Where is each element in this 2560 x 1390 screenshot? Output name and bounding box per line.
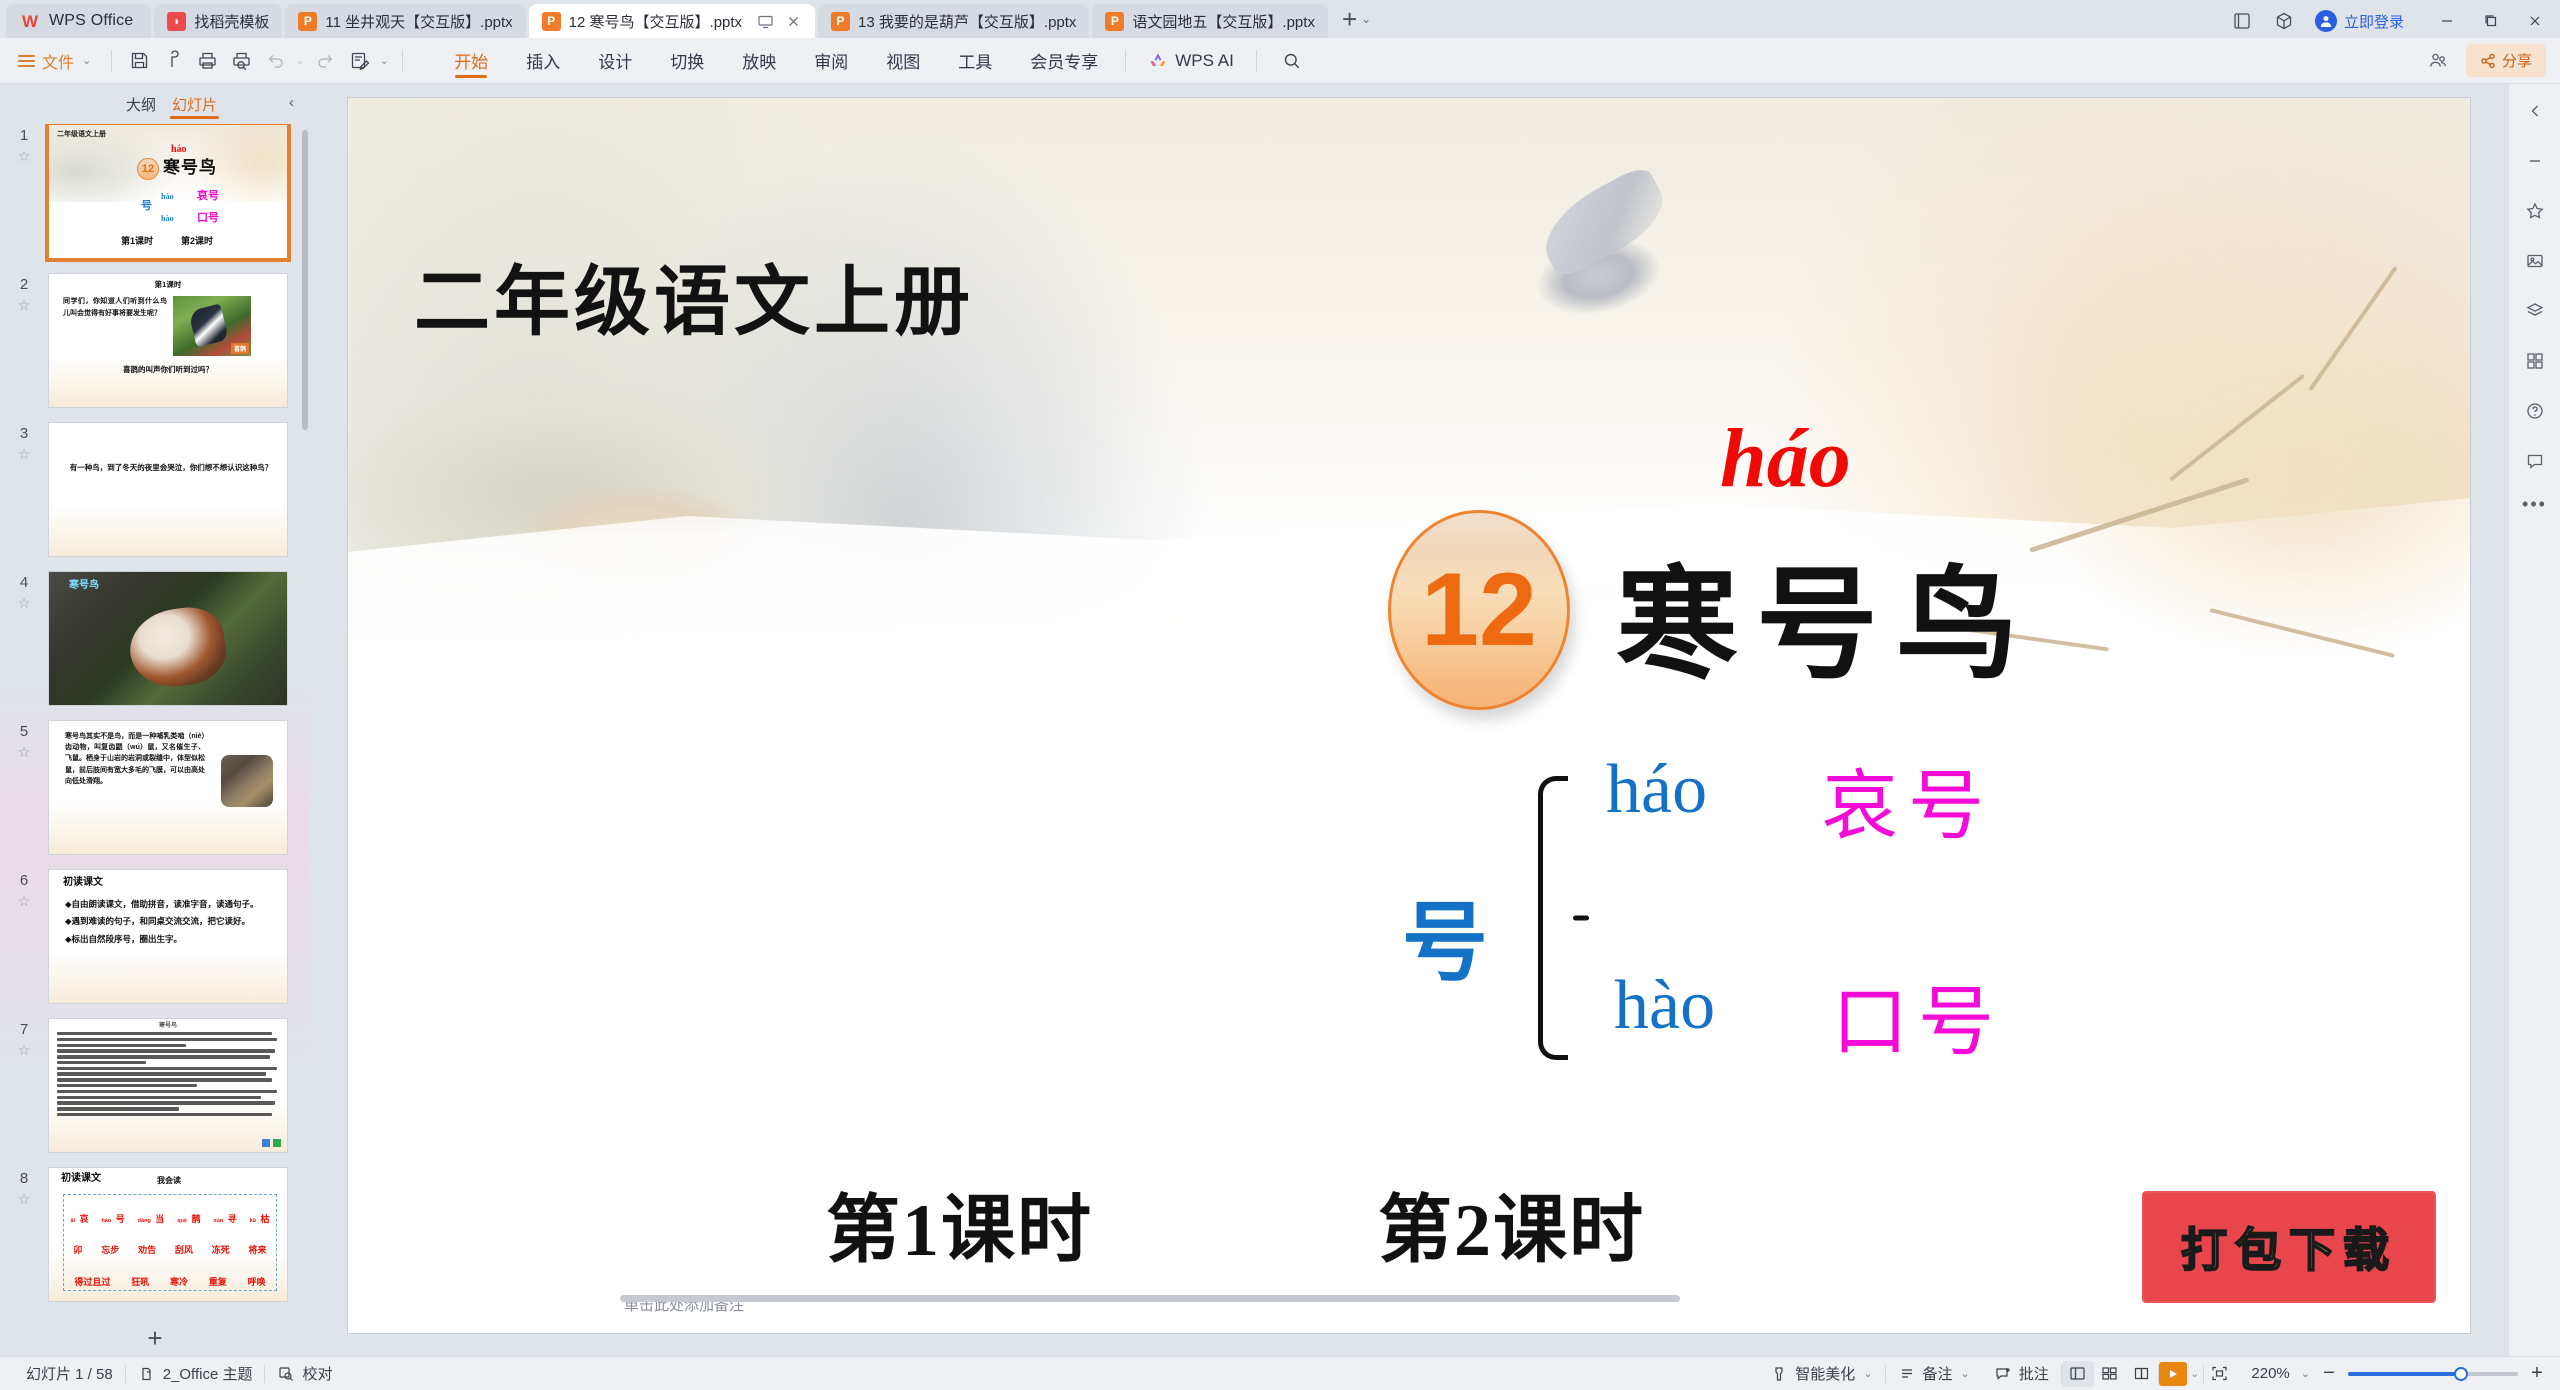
slide-thumbnail-4[interactable]: 寒号鸟 xyxy=(48,571,288,706)
thumb-image-tag: 喜鹊 xyxy=(231,343,249,354)
tab-view[interactable]: 视图 xyxy=(867,38,939,83)
tab-tools[interactable]: 工具 xyxy=(939,38,1011,83)
tab-review[interactable]: 审阅 xyxy=(795,38,867,83)
thumb-bullet: ◆标出自然段序号，圈出生字。 xyxy=(65,933,277,945)
minimize-rail-icon[interactable] xyxy=(2518,144,2552,178)
slide-number: 1 xyxy=(20,128,28,143)
thumbnail-scrollbar[interactable] xyxy=(302,130,308,430)
login-button[interactable]: 立即登录 xyxy=(2315,10,2404,32)
thumb-title: 二年级语文上册 xyxy=(57,131,106,138)
word-char: 鹊 xyxy=(191,1214,200,1224)
list-item[interactable]: 3 ☆ 有一种鸟，到了冬天的夜里会哭泣，你们想不想认识这种鸟？ xyxy=(0,422,310,571)
thumb-bullet-list: ◆自由朗读课文，借助拼音，读准字音，读通句子。 ◆遇到难读的句子，和同桌交流交流… xyxy=(65,898,277,945)
slide-number: 5 xyxy=(20,724,28,739)
undo-dropdown-icon[interactable]: ⌄ xyxy=(292,44,308,78)
menu-icon xyxy=(18,55,35,67)
thumb-heading: 初读课文 xyxy=(61,1174,101,1184)
list-item[interactable]: 1 ☆ 二年级语文上册 háo 12 寒号鸟 号 háo 哀号 hào xyxy=(0,124,310,273)
slide-thumbnail-6[interactable]: 初读课文 ◆自由朗读课文，借助拼音，读准字音，读通句子。 ◆遇到难读的句子，和同… xyxy=(48,869,288,1004)
zoom-in-button[interactable]: + xyxy=(2528,1362,2546,1385)
tab-pptx-12-active[interactable]: P 12 寒号鸟【交互版】.pptx xyxy=(529,4,815,38)
collapse-panel-icon[interactable] xyxy=(2518,94,2552,128)
play-icon xyxy=(2167,1368,2179,1380)
wps-logo-icon: W xyxy=(20,11,40,31)
thumb-image-magpie: 喜鹊 xyxy=(173,296,251,356)
slideshow-dropdown-icon[interactable]: ⌄ xyxy=(2187,1357,2203,1390)
curly-brace-icon xyxy=(1538,776,1568,1060)
slide-editor-stage: 二年级语文上册 háo 12 寒号鸟 号 háo 哀号 hào 口号 第1课时 … xyxy=(310,84,2508,1356)
word-row2[interactable]: 口号 xyxy=(1832,960,2004,1070)
navigator-tabs: 大纲 幻灯片 ‹ xyxy=(0,84,310,124)
share-label: 分享 xyxy=(2502,50,2532,71)
fit-to-window-button[interactable] xyxy=(2204,1361,2236,1387)
tab-label: 语文园地五【交互版】.pptx xyxy=(1132,11,1315,32)
zoom-slider-track[interactable] xyxy=(2348,1372,2518,1376)
slide-heading[interactable]: 寒号鸟 xyxy=(1616,526,2036,703)
thumb-heading: 寒号鸟 xyxy=(163,159,217,176)
wps-ai-icon xyxy=(1148,51,1168,71)
tab-member-exclusive[interactable]: 会员专享 xyxy=(1011,38,1117,83)
template-icon: ◗ xyxy=(167,12,186,31)
word-pinyin: xún xyxy=(213,1218,223,1224)
slide-number: 6 xyxy=(20,873,28,888)
slide-thumbnail-5[interactable]: 寒号鸟其实不是鸟，而是一种哺乳类啮（niè）齿动物，叫复齿鼯（wú）鼠，又名催生… xyxy=(48,720,288,855)
zoom-slider-knob[interactable] xyxy=(2454,1367,2468,1381)
close-tab-icon[interactable] xyxy=(785,13,802,30)
thumb-pinyin: háo xyxy=(171,145,187,155)
thumb-paragraph: 寒号鸟其实不是鸟，而是一种哺乳类啮（niè）齿动物，叫复齿鼯（wú）鼠，又名催生… xyxy=(65,731,205,787)
thumb-subheading: 我会读 xyxy=(157,1177,181,1185)
titlebar-right-controls: 立即登录 xyxy=(2231,10,2560,38)
thumb-row-word: 哀号 xyxy=(197,191,219,202)
new-tab-button[interactable]: + xyxy=(1342,6,1357,32)
chevron-left-icon[interactable]: ‹ xyxy=(289,94,294,111)
star-icon[interactable]: ☆ xyxy=(18,298,31,312)
star-icon[interactable]: ☆ xyxy=(18,596,31,610)
collaborate-icon[interactable] xyxy=(2428,50,2450,72)
list-item[interactable]: 2 ☆ 第1课时 同学们，你知道人们听到什么鸟儿叫会觉得有好事将要发生呢？ 喜鹊… xyxy=(0,273,310,422)
wps-office-window: W WPS Office ◗ 找稻壳模板 P 11 坐井观天【交互版】.pptx… xyxy=(0,0,2560,1390)
thumb-paragraph: 有一种鸟，到了冬天的夜里会哭泣，你们想不想认识这种鸟？ xyxy=(69,461,273,475)
word-char: 当 xyxy=(155,1214,164,1224)
document-tab-bar: W WPS Office ◗ 找稻壳模板 P 11 坐井观天【交互版】.pptx… xyxy=(0,0,2560,38)
spellcheck-button[interactable]: 校对 xyxy=(265,1363,344,1384)
smart-beautify-button[interactable]: 智能美化 ⌄ xyxy=(1758,1363,1884,1384)
word-pinyin: háo xyxy=(101,1218,111,1224)
status-bar-right: 智能美化 ⌄ 备注 ⌄ 批注 xyxy=(1758,1357,2546,1390)
thumb-label: 寒号鸟 xyxy=(69,581,99,591)
notes-button[interactable]: 备注 ⌄ xyxy=(1886,1363,1982,1384)
slide-thumbnail-3[interactable]: 有一种鸟，到了冬天的夜里会哭泣，你们想不想认识这种鸟？ xyxy=(48,422,288,557)
divider xyxy=(1256,50,1257,72)
divider xyxy=(402,50,403,72)
slide-thumbnail-7[interactable]: 寒号鸟 xyxy=(48,1018,288,1153)
tab-label: 11 坐井观天【交互版】.pptx xyxy=(325,11,512,32)
search-icon[interactable] xyxy=(1275,44,1309,78)
ppt-file-icon: P xyxy=(298,12,317,31)
slide-thumbnail-list[interactable]: 1 ☆ 二年级语文上册 háo 12 寒号鸟 号 háo 哀号 hào xyxy=(0,124,310,1356)
chevron-down-icon[interactable]: ⌄ xyxy=(1361,12,1371,26)
pinyin-row1[interactable]: háo xyxy=(1606,750,1707,830)
word-char: 号 xyxy=(116,1214,125,1224)
thumb-char: 号 xyxy=(141,201,152,212)
horizontal-scrollbar[interactable] xyxy=(620,1295,1680,1302)
slide-navigator-panel: 大纲 幻灯片 ‹ 1 ☆ 二年级语文上册 háo 12 寒号鸟 xyxy=(0,84,310,1356)
tab-insert[interactable]: 插入 xyxy=(507,38,579,83)
pinyin-row2[interactable]: hào xyxy=(1614,966,1715,1046)
comments-label: 批注 xyxy=(2019,1363,2049,1384)
theme-button[interactable]: 2_Office 主题 xyxy=(126,1363,265,1384)
word-char: 枯 xyxy=(260,1214,269,1224)
pinyin-group: 号 háo 哀号 hào 口号 xyxy=(1388,758,2128,1098)
undo-icon[interactable] xyxy=(258,44,292,78)
thumb-media-icons xyxy=(262,1139,281,1147)
slide-thumbnail-1[interactable]: 二年级语文上册 háo 12 寒号鸟 号 háo 哀号 hào 口号 第1课时 … xyxy=(48,124,288,259)
theme-label: 2_Office 主题 xyxy=(163,1363,253,1384)
edit-mode-icon[interactable] xyxy=(342,44,376,78)
thumb-bullet: ◆遇到难读的句子，和同桌交流交流，把它读好。 xyxy=(65,915,277,927)
slide-pinyin-title[interactable]: háo xyxy=(1720,410,1851,507)
workspace: 大纲 幻灯片 ‹ 1 ☆ 二年级语文上册 háo 12 寒号鸟 xyxy=(0,84,2560,1356)
layers-icon[interactable] xyxy=(2518,294,2552,328)
cube-icon[interactable] xyxy=(2273,10,2295,32)
login-label: 立即登录 xyxy=(2344,11,2404,32)
tab-pptx-13[interactable]: P 13 我要的是葫芦【交互版】.pptx xyxy=(818,4,1089,38)
thumb-image-flyingsquirrel xyxy=(221,755,273,807)
thumb-art xyxy=(49,423,287,556)
notes-label: 备注 xyxy=(1923,1363,1953,1384)
thumb-text-lines xyxy=(57,1032,279,1116)
tab-transition[interactable]: 切换 xyxy=(651,38,723,83)
more-options-icon[interactable]: ••• xyxy=(2522,494,2547,515)
star-icon[interactable]: ☆ xyxy=(18,745,31,759)
notes-icon xyxy=(1898,1365,1916,1383)
word-pinyin: kū xyxy=(250,1218,256,1224)
star-icon[interactable]: ☆ xyxy=(18,1043,31,1057)
tab-pptx-11[interactable]: P 11 坐井观天【交互版】.pptx xyxy=(285,4,525,38)
thumb-art xyxy=(49,274,287,407)
thumb-heading: 第1课时 xyxy=(49,281,287,289)
download-package-stamp[interactable]: 打包下载 xyxy=(2144,1193,2434,1301)
beautify-label: 智能美化 xyxy=(1795,1363,1855,1384)
file-menu-label: 文件 xyxy=(42,49,74,73)
comment-icon[interactable] xyxy=(2518,444,2552,478)
lesson-2-button[interactable]: 第2课时 xyxy=(1378,1170,1645,1277)
tab-start[interactable]: 开始 xyxy=(435,38,507,83)
thumb-row-pinyin: hào xyxy=(161,215,173,223)
grid-icon[interactable] xyxy=(2518,344,2552,378)
word-char: 哀 xyxy=(80,1214,89,1224)
star-icon[interactable]: ☆ xyxy=(18,894,31,908)
lesson-1-button[interactable]: 第1课时 xyxy=(826,1170,1093,1277)
wps-ai-label: WPS AI xyxy=(1175,51,1234,71)
theme-icon xyxy=(138,1365,156,1383)
lesson-number-badge[interactable]: 12 xyxy=(1388,510,1570,710)
thumb-heading: 初读课文 xyxy=(63,878,103,888)
right-tool-rail: ••• xyxy=(2508,84,2560,1356)
chevron-down-icon: ⌄ xyxy=(82,54,91,67)
chevron-down-icon[interactable]: ⌄ xyxy=(2301,1367,2310,1380)
ppt-file-icon: P xyxy=(542,12,561,31)
status-bar: 幻灯片 1 / 58 2_Office 主题 校对 智能美化 ⌄ 备注 ⌄ xyxy=(0,1356,2560,1390)
word-pinyin: què xyxy=(177,1218,187,1224)
comments-button[interactable]: 批注 xyxy=(1982,1363,2061,1384)
chevron-down-icon: ⌄ xyxy=(1863,1367,1872,1380)
ribbon-menu-list: 开始 插入 设计 切换 放映 审阅 视图 工具 会员专享 WPS AI xyxy=(435,38,1309,83)
slide-sorter-button[interactable] xyxy=(2094,1361,2126,1387)
divider xyxy=(111,50,112,72)
qat-more-icon[interactable]: ⌄ xyxy=(376,44,392,78)
tab-label: 13 我要的是葫芦【交互版】.pptx xyxy=(858,11,1076,32)
thumb-word-grid: āi 哀 háo 号 dàng 当 què 鹊 xún 寻 xyxy=(63,1194,277,1291)
zoom-slider-fill xyxy=(2348,1372,2460,1376)
wps-office-home-button[interactable]: W WPS Office xyxy=(6,4,151,38)
tab-slideshow[interactable]: 放映 xyxy=(723,38,795,83)
thumb-row-word: 口号 xyxy=(197,213,219,224)
slide-number: 4 xyxy=(20,575,28,590)
thumb-heading: 寒号鸟 xyxy=(49,1023,287,1029)
word-pinyin: dàng xyxy=(138,1218,151,1224)
slide-canvas[interactable]: 二年级语文上册 háo 12 寒号鸟 号 háo 哀号 hào 口号 第1课时 … xyxy=(348,98,2470,1333)
print-icon[interactable] xyxy=(190,44,224,78)
zoom-control[interactable]: 220% ⌄ − + xyxy=(2236,1362,2546,1385)
print-preview-icon[interactable] xyxy=(224,44,258,78)
share-icon xyxy=(2480,53,2496,69)
slide-thumbnail-8[interactable]: 初读课文 我会读 āi 哀 háo 号 dàng 当 què xyxy=(48,1167,288,1302)
ribbon-bar: 文件 ⌄ ⌄ xyxy=(0,38,2560,84)
group-char-label[interactable]: 号 xyxy=(1402,872,1488,997)
ppt-file-icon: P xyxy=(1105,12,1124,31)
notes-pane[interactable]: 单击此处添加备注 xyxy=(620,1294,2456,1324)
thumb-row-pinyin: háo xyxy=(161,193,173,201)
help-icon[interactable] xyxy=(2518,394,2552,428)
list-item[interactable]: 5 ☆ 寒号鸟其实不是鸟，而是一种哺乳类啮（niè）齿动物，叫复齿鼯（wú）鼠，… xyxy=(0,720,310,869)
add-slide-button[interactable]: + xyxy=(0,1316,310,1356)
present-tab-icon[interactable] xyxy=(757,13,774,30)
tab-slides[interactable]: 幻灯片 xyxy=(164,84,225,124)
slide-number: 8 xyxy=(20,1171,28,1186)
tab-label: 找稻壳模板 xyxy=(194,11,269,32)
maximize-button[interactable] xyxy=(2482,12,2500,30)
comment-add-icon xyxy=(1994,1365,2012,1383)
multi-window-icon[interactable] xyxy=(2231,10,2253,32)
tab-outline[interactable]: 大纲 xyxy=(118,84,164,124)
share-button[interactable]: 分享 xyxy=(2466,44,2546,77)
thumb-badge: 12 xyxy=(137,158,159,180)
ppt-file-icon: P xyxy=(831,12,850,31)
redo-icon[interactable] xyxy=(308,44,342,78)
tab-pptx-yuwen[interactable]: P 语文园地五【交互版】.pptx xyxy=(1092,4,1328,38)
star-icon[interactable]: ☆ xyxy=(18,149,31,163)
start-slideshow-button[interactable] xyxy=(2159,1362,2187,1386)
list-item[interactable]: 4 ☆ 寒号鸟 xyxy=(0,571,310,720)
star-icon[interactable]: ☆ xyxy=(18,447,31,461)
thumb-paragraph: 同学们，你知道人们听到什么鸟儿叫会觉得有好事将要发生呢？ xyxy=(63,296,167,319)
tab-design[interactable]: 设计 xyxy=(579,38,651,83)
wps-ai-button[interactable]: WPS AI xyxy=(1134,51,1248,71)
file-menu-button[interactable]: 文件 ⌄ xyxy=(14,49,101,73)
minimize-button[interactable] xyxy=(2438,12,2456,30)
spellcheck-label: 校对 xyxy=(302,1363,332,1384)
star-icon[interactable]: ☆ xyxy=(18,1192,31,1206)
list-item[interactable]: 8 ☆ 初读课文 我会读 āi 哀 háo 号 xyxy=(0,1167,310,1316)
normal-view-button[interactable] xyxy=(2062,1361,2094,1387)
slide-number: 7 xyxy=(20,1022,28,1037)
image-icon[interactable] xyxy=(2518,244,2552,278)
thumb-lesson2: 第2课时 xyxy=(181,237,213,246)
quick-access-toolbar: 文件 ⌄ ⌄ xyxy=(0,38,413,83)
thumb-question: 喜鹊的叫声你们听到过吗？ xyxy=(49,366,287,374)
slide-count-label: 幻灯片 1 / 58 xyxy=(14,1363,125,1384)
slide-thumbnail-2[interactable]: 第1课时 同学们，你知道人们听到什么鸟儿叫会觉得有好事将要发生呢？ 喜鹊 喜鹊的… xyxy=(48,273,288,408)
avatar-icon xyxy=(2315,10,2337,32)
zoom-value: 220% xyxy=(2244,1365,2290,1382)
close-button[interactable] xyxy=(2526,12,2544,30)
save-icon[interactable] xyxy=(122,44,156,78)
word-pinyin: āi xyxy=(70,1218,75,1224)
slide-number: 2 xyxy=(20,277,28,292)
download-stamp-label: 打包下载 xyxy=(2181,1214,2397,1280)
zoom-out-button[interactable]: − xyxy=(2320,1362,2338,1385)
beautify-icon xyxy=(1770,1365,1788,1383)
list-item[interactable]: 7 ☆ 寒号鸟 xyxy=(0,1018,310,1167)
tab-label: 12 寒号鸟【交互版】.pptx xyxy=(569,11,742,32)
divider xyxy=(1125,50,1126,72)
list-item[interactable]: 6 ☆ 初读课文 ◆自由朗读课文，借助拼音，读准字音，读通句子。 ◆遇到难读的句… xyxy=(0,869,310,1018)
search-file-icon[interactable] xyxy=(156,44,190,78)
ribbon-right-controls: 分享 xyxy=(2428,44,2560,77)
chevron-down-icon: ⌄ xyxy=(1961,1367,1970,1380)
thumb-lesson1: 第1课时 xyxy=(121,237,153,246)
slide-title[interactable]: 二年级语文上册 xyxy=(414,240,974,350)
word-char: 寻 xyxy=(228,1214,237,1224)
spellcheck-icon xyxy=(277,1365,295,1383)
reading-view-button[interactable] xyxy=(2126,1361,2158,1387)
tab-template-store[interactable]: ◗ 找稻壳模板 xyxy=(154,4,282,38)
word-row1[interactable]: 哀号 xyxy=(1822,744,1994,854)
star-favorite-icon[interactable] xyxy=(2518,194,2552,228)
wps-brand-label: WPS Office xyxy=(49,12,133,30)
slide-number: 3 xyxy=(20,426,28,441)
thumb-bullet: ◆自由朗读课文，借助拼音，读准字音，读通句子。 xyxy=(65,898,277,910)
